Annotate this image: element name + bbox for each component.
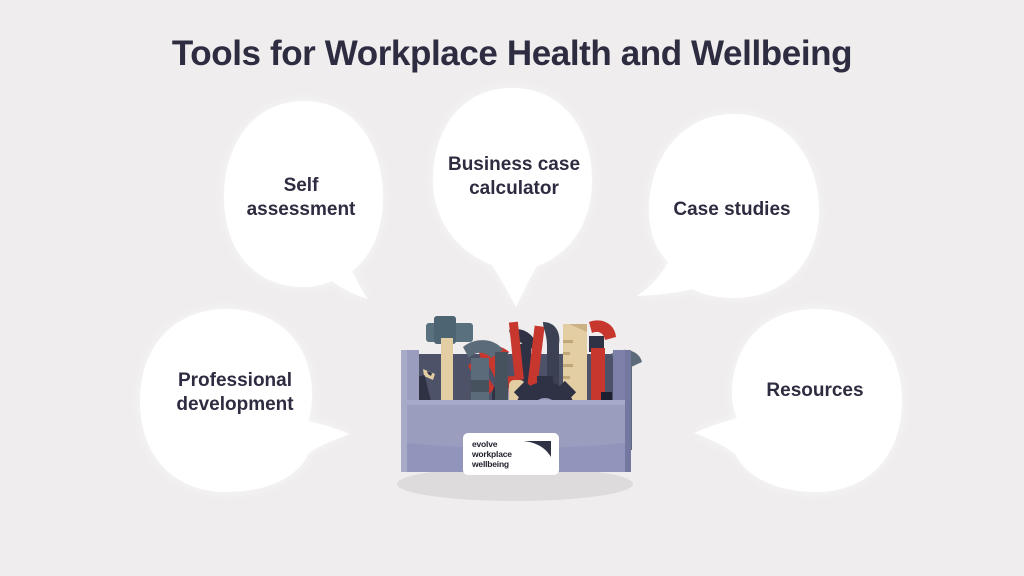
page-title: Tools for Workplace Health and Wellbeing [0, 34, 1024, 74]
bubble-shape-business-case [433, 88, 592, 307]
logo-text: evolve workplace wellbeing [472, 440, 512, 470]
bubble-shape-resources [694, 309, 902, 492]
bubble-resources[interactable] [690, 306, 920, 496]
bubble-business-case-calculator[interactable] [411, 86, 616, 316]
bubble-shape-professional-development [140, 309, 350, 492]
slide-canvas: Tools for Workplace Health and Wellbeing [0, 0, 1024, 576]
bubble-case-studies[interactable] [623, 112, 843, 317]
bubble-professional-development[interactable] [128, 306, 358, 501]
toolbox-logo-badge: evolve workplace wellbeing [463, 433, 559, 475]
logo-swoosh-icon [523, 439, 553, 459]
bubble-shape-case-studies [637, 114, 819, 298]
bubble-self-assessment[interactable] [203, 99, 413, 319]
bubble-shape-self-assessment [224, 101, 383, 299]
